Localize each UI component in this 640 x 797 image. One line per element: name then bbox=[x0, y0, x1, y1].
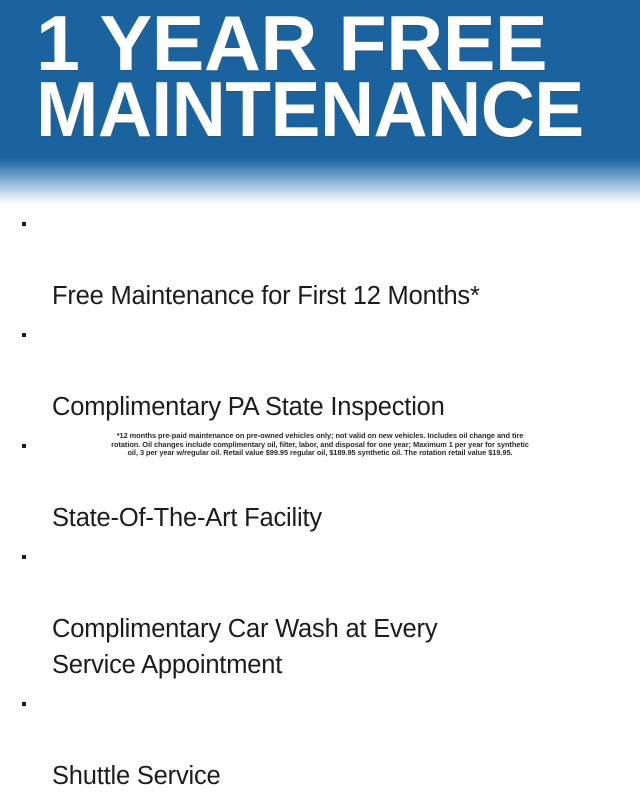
banner-gradient-fade bbox=[0, 158, 640, 205]
feature-label: State-Of-The-Art Facility bbox=[52, 504, 322, 532]
list-item: Complimentary Car Wash at Every Service … bbox=[0, 539, 640, 683]
feature-label: Complimentary PA State Inspection bbox=[52, 393, 445, 421]
square-bullet-icon bbox=[22, 702, 26, 706]
headline-line-2: MAINTENANCE bbox=[36, 74, 607, 148]
feature-label: Free Maintenance for First 12 Months* bbox=[52, 282, 480, 310]
list-item: Shuttle Service bbox=[0, 686, 640, 794]
fine-print-line-3: oil, 3 per year w/regular oil. Retail va… bbox=[36, 449, 604, 458]
headline-banner: 1 YEAR FREE MAINTENANCE bbox=[0, 0, 640, 205]
feature-label: Complimentary Car Wash at Every Service … bbox=[52, 615, 437, 679]
square-bullet-icon bbox=[22, 555, 26, 559]
list-item: Free Maintenance for First 12 Months* bbox=[0, 206, 640, 314]
square-bullet-icon bbox=[22, 222, 26, 226]
square-bullet-icon bbox=[22, 333, 26, 337]
square-bullet-icon bbox=[22, 444, 26, 448]
promo-graphic: 1 YEAR FREE MAINTENANCE Free Maintenance… bbox=[0, 0, 640, 480]
fine-print-disclaimer: *12 months pre-paid maintenance on pre-o… bbox=[36, 432, 604, 458]
feature-list: Free Maintenance for First 12 Months* Co… bbox=[0, 206, 640, 797]
headline: 1 YEAR FREE MAINTENANCE bbox=[36, 8, 616, 146]
feature-label: Shuttle Service bbox=[52, 762, 221, 790]
list-item: Complimentary PA State Inspection bbox=[0, 317, 640, 425]
